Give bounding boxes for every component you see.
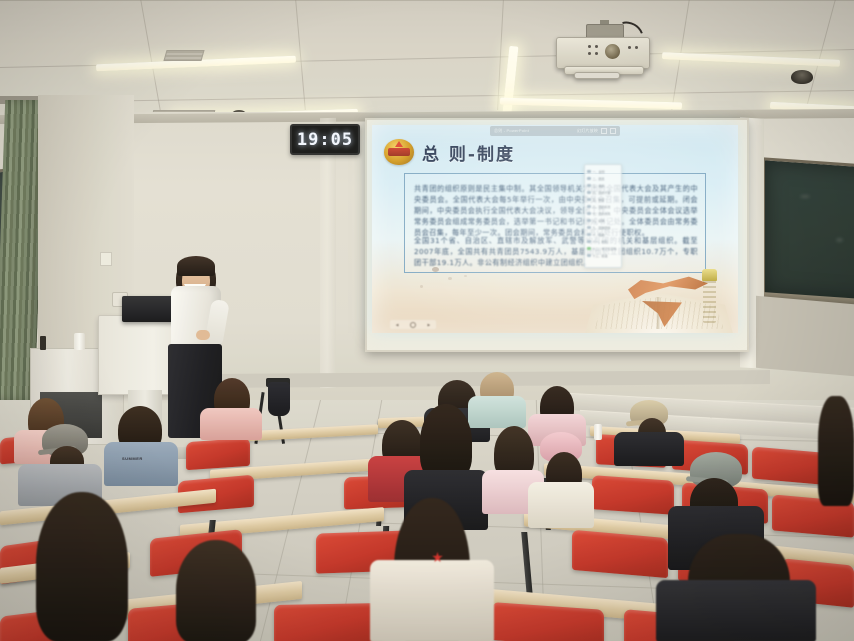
list-icon (587, 219, 591, 223)
outline-item-label: 十一、附则 (593, 240, 608, 244)
minimize-icon[interactable] (601, 128, 607, 134)
seat (592, 475, 674, 515)
ceiling-speaker (791, 70, 813, 84)
slide-outline-panel[interactable]: 一、总则二、团员三、组织四、团的干部五、制度六、团的标志七、团的作风八、纪律九、… (584, 164, 622, 268)
outline-item[interactable]: 一、总则 (587, 168, 619, 175)
water-bottle (594, 424, 602, 440)
outline-item[interactable]: 七、团的作风 (587, 210, 619, 217)
slide-title: 总 则-制度 (422, 140, 515, 165)
ceiling-light (662, 52, 840, 67)
hanging-coat (268, 382, 290, 416)
slide-paragraph-1: 共青团的组织原则是民主集中制。其全国领导机关为团的全国代表大会及其产生的中央委员… (414, 183, 698, 238)
lecture-hall-scene: 19:05 总则 - PowerPoint 幻灯片放映 总 则-制度 共青团的组… (0, 0, 854, 641)
seat (572, 530, 668, 578)
star-icon (395, 141, 403, 147)
list-icon (587, 170, 591, 174)
projector-bracket (574, 72, 620, 79)
list-icon (587, 254, 591, 258)
outline-item[interactable]: 十三、结语 (587, 252, 619, 259)
outline-item[interactable]: 十、团歌 (587, 231, 619, 238)
outline-item-label: 七、团的作风 (593, 212, 611, 216)
cyl-emblem-icon (384, 139, 414, 165)
outline-item-label: 三、组织 (593, 184, 605, 188)
outline-item[interactable]: 三、组织 (587, 182, 619, 189)
list-icon (587, 184, 591, 188)
next-slide-icon[interactable]: ▶ (428, 323, 431, 327)
presenter-hand (196, 330, 210, 340)
powerpoint-toolbar[interactable]: 总则 - PowerPoint 幻灯片放映 (490, 126, 620, 136)
wall-skirting (756, 296, 854, 377)
list-icon (587, 233, 591, 237)
outline-item-label: 九、团徽团旗 (593, 226, 611, 230)
outline-item-label: 八、纪律 (593, 219, 605, 223)
list-icon (587, 226, 591, 230)
outline-item[interactable]: 八、纪律 (587, 217, 619, 224)
wall-pillar (320, 118, 336, 388)
outline-item-label: 十、团歌 (593, 233, 605, 237)
list-icon (587, 240, 591, 244)
seat (492, 602, 604, 641)
ceiling-light (500, 98, 682, 110)
list-icon (587, 198, 591, 202)
outline-item-label: 十三、结语 (593, 254, 608, 258)
blackboard (762, 157, 854, 308)
light-switch[interactable] (100, 252, 112, 266)
check-icon (587, 247, 591, 251)
outline-item-label: 一、总则 (593, 170, 605, 174)
outline-item[interactable]: 二、团员 (587, 175, 619, 182)
slideshow-controls[interactable]: ◀ ▶ (390, 320, 436, 329)
outline-item[interactable]: 五、制度 (587, 196, 619, 203)
list-icon (587, 191, 591, 195)
outline-item[interactable]: 六、团的标志 (587, 203, 619, 210)
list-icon (587, 212, 591, 216)
close-icon[interactable] (610, 128, 616, 134)
outline-item[interactable]: 四、团的干部 (587, 189, 619, 196)
torch-graphic (703, 277, 716, 323)
ppt-filename: 总则 - PowerPoint (494, 128, 529, 134)
seat (274, 603, 384, 641)
outline-item-label: 十二、学习与宣传 (593, 247, 617, 251)
outline-item-label: 四、团的干部 (593, 191, 611, 195)
paper-cup (74, 333, 85, 350)
projection-screen: 总则 - PowerPoint 幻灯片放映 总 则-制度 共青团的组织原则是民主… (372, 125, 738, 333)
clock-time: 19:05 (297, 130, 353, 150)
torch-flame-graphic (702, 269, 717, 281)
prev-slide-icon[interactable]: ◀ (396, 323, 399, 327)
wall-digital-clock: 19:05 (290, 124, 360, 155)
outline-item[interactable]: 十二、学习与宣传 (587, 245, 619, 252)
outline-item-label: 二、团员 (593, 177, 605, 181)
outline-item[interactable]: 九、团徽团旗 (587, 224, 619, 231)
seat (186, 438, 250, 470)
shirt-print: SUMMER (122, 456, 143, 461)
ceiling-vent (163, 50, 204, 61)
list-icon (587, 205, 591, 209)
slideshow-menu-icon[interactable] (410, 322, 416, 328)
slide-paragraph-2: 全国31个省、自治区、直辖市及解放军、武警等均有团的机关和基层组织。截至2007… (414, 235, 698, 268)
outline-item[interactable]: 十一、附则 (587, 238, 619, 245)
ppt-status: 幻灯片放映 (577, 128, 598, 134)
outline-item-label: 六、团的标志 (593, 205, 611, 209)
desk-bottle (40, 336, 46, 350)
outline-item-label: 五、制度 (593, 198, 605, 202)
list-icon (587, 177, 591, 181)
